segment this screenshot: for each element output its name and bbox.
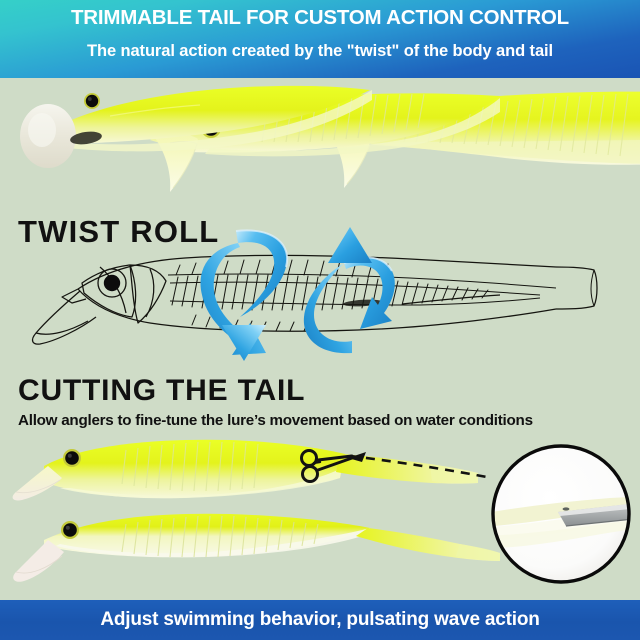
cutting-tail-heading: CUTTING THE TAIL (18, 374, 305, 408)
cutting-tail-subheading: Allow anglers to fine-tune the lure’s mo… (18, 412, 533, 429)
top-lure-photo-group (0, 78, 640, 205)
footer-text: Adjust swimming behavior, pulsating wave… (0, 609, 640, 631)
header-title: TRIMMABLE TAIL FOR CUSTOM ACTION CONTROL (0, 6, 640, 30)
twist-roll-diagram (0, 205, 640, 373)
header-subtitle: The natural action created by the "twist… (0, 42, 640, 61)
lure-bottom-2 (13, 514, 500, 582)
header-banner: TRIMMABLE TAIL FOR CUSTOM ACTION CONTROL… (0, 0, 640, 78)
lure-bottom-1 (13, 440, 478, 501)
spiral-arrow-right (304, 227, 395, 353)
cutting-tail-diagram (0, 436, 640, 600)
footer-banner: Adjust swimming behavior, pulsating wave… (0, 600, 640, 640)
detail-inset-circle (470, 446, 640, 582)
infographic-page: TRIMMABLE TAIL FOR CUSTOM ACTION CONTROL… (0, 0, 640, 640)
